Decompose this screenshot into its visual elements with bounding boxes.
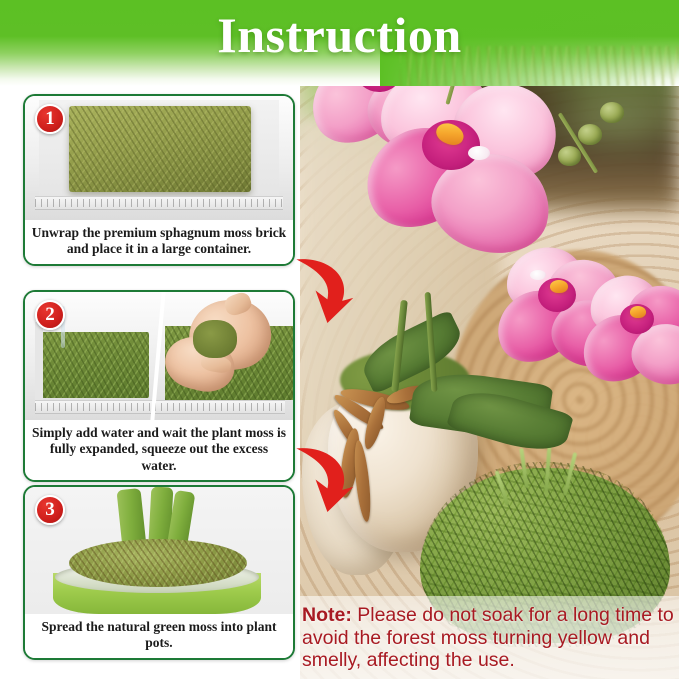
arrow-step-2-to-3 — [283, 441, 357, 515]
orchid-bud — [600, 102, 624, 123]
step-panel-2: 2 Simply add water and wait the plant mo… — [23, 290, 295, 482]
step-panel-3: 3 Spread the natural green moss into pla… — [23, 485, 295, 660]
sphagnum-moss-brick — [69, 106, 251, 192]
instruction-infographic: Instruction 1 Unwrap the premium sphagnu… — [0, 0, 679, 679]
orchid-bud — [578, 124, 602, 145]
step-2-image: 2 — [25, 292, 293, 420]
moss-clump-in-hand — [193, 320, 237, 358]
arrow-step-1-to-2 — [283, 252, 357, 326]
note-body: Please do not soak for a long time to av… — [302, 604, 674, 671]
step-badge-2: 2 — [35, 300, 65, 330]
step-badge-3: 3 — [35, 495, 65, 525]
container-wall — [35, 322, 43, 400]
hero-orchid-photo — [300, 0, 679, 679]
step-1-caption: Unwrap the premium sphagnum moss brick a… — [25, 220, 293, 264]
note-label: Note: — [302, 604, 352, 626]
step-2-caption: Simply add water and wait the plant moss… — [25, 420, 293, 480]
step-3-image: 3 — [25, 487, 293, 614]
green-moss-in-pot — [69, 539, 247, 587]
ruler — [35, 400, 285, 414]
step-1-image: 1 — [25, 96, 293, 220]
orchid-blossom — [358, 68, 558, 258]
step-badge-1: 1 — [35, 104, 65, 134]
page-title: Instruction — [0, 6, 679, 64]
header-banner: Instruction — [0, 0, 679, 86]
expanded-moss — [39, 332, 149, 398]
ruler — [35, 196, 283, 210]
step-panel-1: 1 Unwrap the premium sphagnum moss brick… — [23, 94, 295, 266]
orchid-blossom — [582, 276, 679, 388]
orchid-bud — [558, 146, 581, 166]
note-text: Note: Please do not soak for a long time… — [302, 604, 674, 672]
step-3-caption: Spread the natural green moss into plant… — [25, 614, 293, 658]
